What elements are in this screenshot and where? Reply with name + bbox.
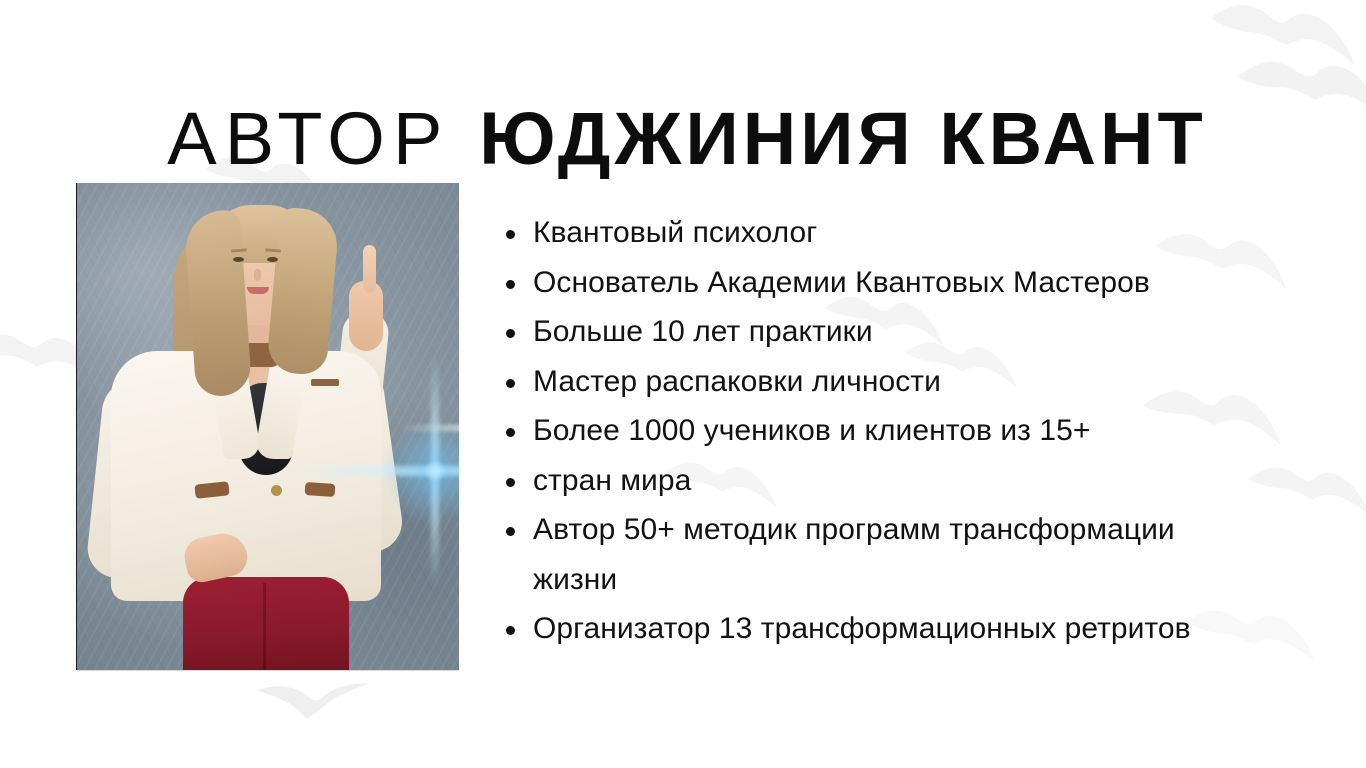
blazer-button (271, 485, 282, 496)
list-item: стран мира (500, 456, 1330, 506)
eye-left (233, 257, 244, 262)
gold-starburst-horizontal-ray (397, 425, 459, 432)
title-space (451, 97, 480, 180)
list-item: Более 1000 учеников и клиентов из 15+ (500, 406, 1330, 456)
author-credentials-list: Квантовый психолог Основатель Академии К… (500, 208, 1330, 654)
author-portrait-photo (77, 183, 459, 670)
mouth (247, 287, 269, 294)
list-item: Автор 50+ методик программ трансформации (500, 505, 1330, 555)
blazer-pocket-detail (311, 379, 339, 386)
buckle-right (305, 482, 336, 497)
eye-right (267, 257, 278, 262)
list-item: Квантовый психолог (500, 208, 1330, 258)
red-trousers (183, 577, 349, 670)
page-title: АВТОР ЮДЖИНИЯ КВАНТ (0, 102, 1366, 176)
portrait-figure (77, 183, 459, 670)
list-item: Больше 10 лет практики (500, 307, 1330, 357)
list-item: Мастер распаковки личности (500, 357, 1330, 407)
nose (254, 269, 261, 281)
list-item: Основатель Академии Квантовых Мастеров (500, 258, 1330, 308)
title-author-name: ЮДЖИНИЯ КВАНТ (479, 97, 1207, 180)
list-item-continuation: жизни (500, 555, 1330, 605)
slide-canvas: АВТОР ЮДЖИНИЯ КВАНТ (0, 0, 1366, 768)
seagull-watermark-icon (254, 676, 372, 726)
raised-index-finger (363, 245, 376, 293)
list-item: Организатор 13 трансформационных ретрито… (500, 604, 1330, 654)
trousers-seam (263, 583, 266, 670)
slide-title-wrapper: АВТОР ЮДЖИНИЯ КВАНТ (0, 52, 1366, 225)
title-prefix: АВТОР (167, 97, 450, 180)
blue-flare-horizontal-ray (285, 466, 459, 476)
